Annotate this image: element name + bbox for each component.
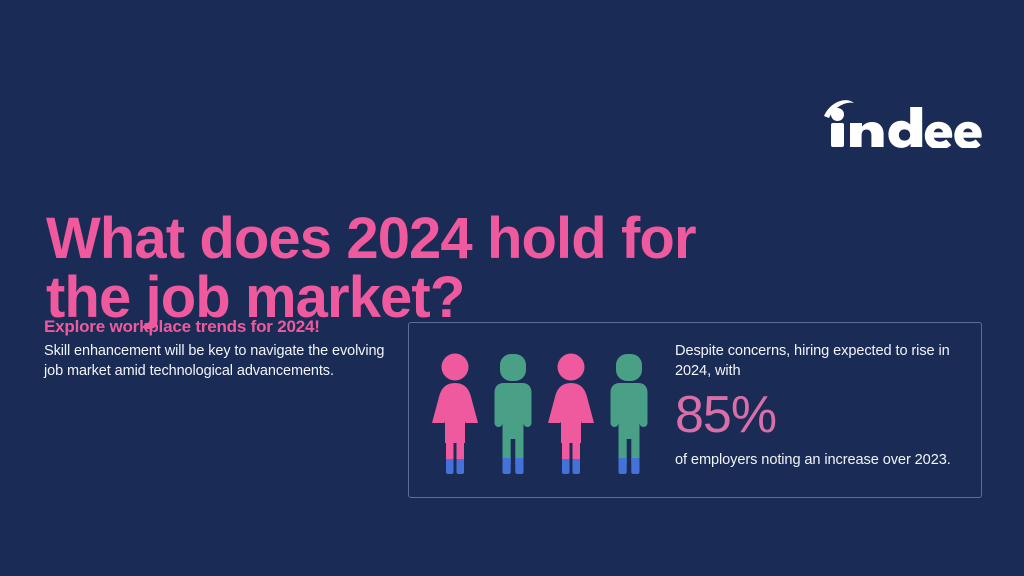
slide-canvas: What does 2024 hold for the job market? … <box>0 0 1024 576</box>
intro-text-block: Explore workplace trends for 2024! Skill… <box>44 316 396 382</box>
figure-female-2 <box>545 351 597 475</box>
figure-male-1 <box>487 351 539 475</box>
people-pictogram-group <box>429 347 659 475</box>
intro-subheading: Explore workplace trends for 2024! <box>44 316 396 338</box>
statistic-panel: Despite concerns, hiring expected to ris… <box>408 322 982 498</box>
intro-body-text: Skill enhancement will be key to navigat… <box>44 341 396 382</box>
indeed-logo <box>820 96 990 148</box>
statistic-lead-text: Despite concerns, hiring expected to ris… <box>675 342 965 381</box>
headline-line-1: What does 2024 hold for <box>46 209 726 268</box>
statistic-tail-text: of employers noting an increase over 202… <box>675 451 965 471</box>
page-title: What does 2024 hold for the job market? <box>46 209 726 327</box>
figure-male-2 <box>603 351 655 475</box>
statistic-text-block: Despite concerns, hiring expected to ris… <box>675 342 965 471</box>
figure-female-1 <box>429 351 481 475</box>
statistic-value: 85% <box>675 388 965 443</box>
